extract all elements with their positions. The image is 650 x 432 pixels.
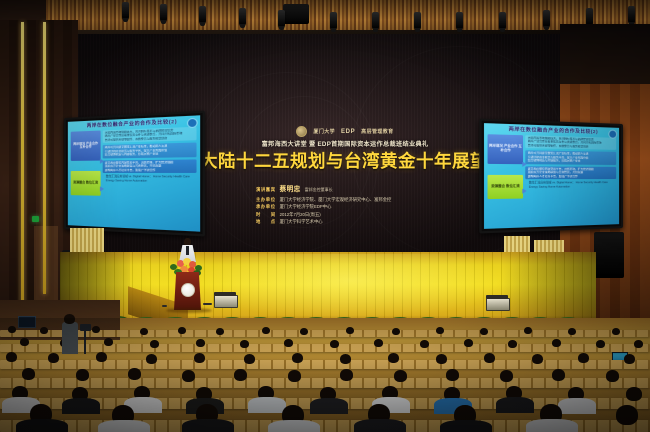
conference-hall-photo: 厦门大学 EDP 高层管理教育 富邦海西大讲堂 暨 EDP首期国际资本运作总裁班… [0, 0, 650, 432]
wall-light-strip [21, 22, 24, 322]
detail-value: 厦门大学经济学院、厦门大学宏观经济研究中心、富邦金控 [280, 196, 392, 204]
podium-shadow [166, 308, 212, 313]
presentation-slide: 两岸在数位融合产业的合作及比较(2) 两岸现况 产业合作 互补合作 资源整合 数… [484, 123, 619, 229]
banner-detail-row: 主办单位 厦门大学经济学院、厦门大学宏观经济研究中心、富邦金控 [256, 196, 490, 204]
slide-text-block: 建立两岸数位内容交易平台，活络市场，扩大经济规模 鼓励双方企业策略联盟与合资经营… [525, 166, 616, 179]
stage-floor-monitor-top [214, 292, 236, 296]
stage-light-icon [278, 10, 285, 27]
slide-text-line: 建构两岸人才培育平台，加强产学研合作 [105, 168, 194, 172]
detail-key: 主办单位 [256, 196, 276, 204]
banner-logos: 厦门大学 EDP 高层管理教育 [200, 126, 490, 137]
banner-detail-row: 地 点 厦门大学科学艺术中心 [256, 218, 490, 226]
detail-value: 2012年7月20日(周五) [280, 211, 321, 219]
slide-tag-blue: 两岸现况 产业合作 互补合作 [71, 130, 101, 161]
slide-bullet: Health Care [594, 181, 608, 184]
wall-light-strip [43, 22, 46, 294]
slide-text-line: 建构两岸人才培育平台，加强产学研合作 [528, 174, 615, 178]
stage-light-icon [414, 12, 421, 29]
speaker-tie [186, 246, 189, 255]
slide-body: 两岸现况 产业合作 互补合作 资源整合 数位汇流 大陆内需市场规模庞大，台湾拥有… [71, 126, 197, 224]
podium-emblem-icon [181, 283, 195, 297]
stage-light-icon [586, 8, 593, 25]
banner-title: 大陆十二五规划与台湾黄金十年展望与合作 [200, 152, 490, 170]
stage-light-icon [122, 2, 129, 19]
slide-tag-green: 资源整合 数位汇流 [71, 171, 101, 196]
stage-light-icon [628, 6, 635, 23]
slide-bullet: Home Automation [124, 179, 147, 182]
edp-mark: EDP [341, 129, 355, 135]
stage-cable [203, 303, 212, 305]
projection-screen-right: 两岸在数位融合产业的合作及比较(2) 两岸现况 产业合作 互补合作 资源整合 数… [479, 119, 623, 234]
slide-text-line: 结合硬体制造与内容服务，形成完整产业链 [105, 152, 194, 157]
stage-light-pool [200, 254, 500, 320]
slide-tag-green: 资源整合 数位汇流 [488, 174, 524, 199]
stage-light-icon [543, 10, 550, 27]
university-seal-icon [296, 126, 307, 137]
slide-bullet: Energy Saving [106, 179, 124, 182]
slide-tag-column: 两岸现况 产业合作 互补合作 资源整合 数位汇流 [488, 134, 524, 222]
slide-tag-column: 两岸现况 产业合作 互补合作 资源整合 数位汇流 [71, 130, 101, 220]
edp-mark-sub: 高层管理教育 [361, 128, 393, 135]
slide-bullets: 数位汇流应用领域 vs. Digital Home： Home Security… [103, 175, 197, 183]
stage-light-icon [372, 12, 379, 29]
slide-text-line: 结合硬体制造与内容服务，形成完整产业链 [528, 159, 615, 164]
event-banner: 厦门大学 EDP 高层管理教育 富邦海西大讲堂 暨 EDP首期国际资本运作总裁班… [200, 126, 490, 226]
banner-detail-row: 时 间 2012年7月20日(周五) [256, 211, 490, 219]
slide-bullets: 数位汇流应用领域 vs. Digital Home： Home Security… [525, 181, 616, 189]
presentation-slide: 两岸在数位融合产业的合作及比较(2) 两岸现况 产业合作 互补合作 资源整合 数… [68, 115, 200, 231]
detail-value: 厦门大学经济学院EDP中心 [280, 203, 332, 211]
ceiling-light-housing [283, 4, 309, 24]
auditorium-shading [0, 318, 650, 432]
banner-detail-row: 承办单位 厦门大学经济学院EDP中心 [256, 203, 490, 211]
organizer-abbr: 厦门大学 [313, 128, 335, 135]
slide-bullet: Home Automation [548, 185, 570, 188]
slide-text-block: 大陆内需市场规模庞大，台湾拥有技术与品牌经营优势 两岸产业合作应着重优势互补与资… [103, 126, 197, 143]
banner-subtitle: 富邦海西大讲堂 暨 EDP首期国际资本运作总裁班结业典礼 [200, 139, 490, 148]
exit-sign-icon [32, 216, 39, 222]
detail-value: 厦门大学科学艺术中心 [280, 218, 323, 226]
stage-right-shadow [500, 252, 596, 324]
stage-floor-monitor [486, 298, 510, 311]
stage-light-icon [239, 8, 246, 25]
banner-detail-row: 演讲嘉宾 蔡明忠 富邦金控董事长 [256, 184, 490, 196]
stage-light-icon [160, 4, 167, 21]
slide-text-column: 大陆内需市场规模庞大，台湾拥有技术与品牌经营优势 两岸产业合作应着重优势互补与资… [525, 135, 616, 221]
detail-key: 地 点 [256, 218, 276, 226]
speaker-head [184, 238, 191, 246]
stage-light-icon [456, 12, 463, 29]
stage-floor-monitor [214, 295, 238, 308]
stage-light-icon [330, 12, 337, 29]
detail-key: 时 间 [256, 211, 276, 219]
slide-body: 两岸现况 产业合作 互补合作 资源整合 数位汇流 大陆内需市场规模庞大，台湾拥有… [488, 134, 617, 222]
slide-page-badge [608, 129, 617, 138]
detail-value: 蔡明忠 [280, 184, 301, 196]
slide-tag-blue: 两岸现况 产业合作 互补合作 [488, 134, 524, 164]
slide-text-block: 两岸可共同建立数位汇流产业标准，推动跨人互通 引进创新商业模式与服务平台，提升产… [525, 150, 616, 164]
stage-light-icon [499, 12, 506, 29]
stage-floor-monitor-top [486, 295, 508, 299]
slide-text-column: 大陆内需市场规模庞大，台湾拥有技术与品牌经营优势 两岸产业合作应着重优势互补与资… [103, 126, 197, 224]
projection-screen-left: 两岸在数位融合产业的合作及比较(2) 两岸现况 产业合作 互补合作 资源整合 数… [64, 111, 205, 237]
detail-key: 演讲嘉宾 [256, 186, 276, 194]
banner-details: 演讲嘉宾 蔡明忠 富邦金控董事长 主办单位 厦门大学经济学院、厦门大学宏观经济研… [200, 184, 490, 226]
pa-speaker-right [594, 232, 624, 278]
slide-text-block: 建立两岸数位内容交易平台，活络市场，扩大经济规模 鼓励双方企业策略联盟与合资经营… [103, 159, 197, 173]
slide-bullet: Home Security [153, 175, 172, 178]
slide-text-block: 大陆内需市场规模庞大，台湾拥有技术与品牌经营优势 两岸产业合作应着重优势互补与资… [525, 135, 616, 150]
detail-note: 富邦金控董事长 [305, 186, 333, 193]
slide-page-badge [187, 117, 198, 128]
slide-bullet: Home Security [576, 181, 593, 184]
slide-bullet: Health Care [173, 175, 189, 178]
slide-bullet: Energy Saving [529, 185, 547, 188]
detail-key: 承办单位 [256, 203, 276, 211]
slide-text-block: 两岸可共同建立数位汇流产业标准，推动跨人互通 引进创新商业模式与服务平台，提升产… [103, 143, 197, 158]
stage-light-icon [199, 6, 206, 23]
stage-cable [162, 305, 167, 307]
